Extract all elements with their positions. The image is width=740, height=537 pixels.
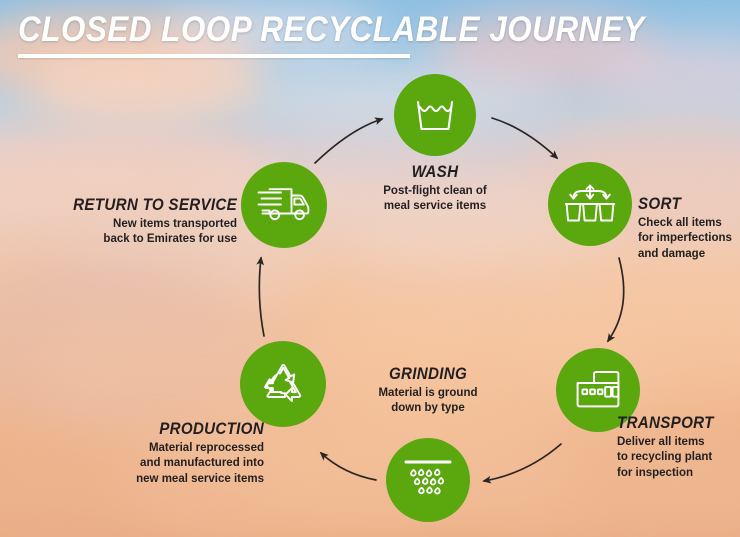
step-body-sort: Check all items for imperfections and da… — [638, 216, 740, 262]
step-heading-transport: TRANSPORT — [617, 415, 730, 432]
step-body-grinding: Material is ground down by type — [333, 386, 523, 416]
factory-plant-icon — [574, 370, 622, 410]
title-underline — [18, 54, 410, 58]
step-heading-wash: WASH — [348, 164, 523, 181]
step-body-return-to-service: New items transported back to Emirates f… — [2, 217, 237, 247]
page-title-text: CLOSED LOOP RECYCLABLE JOURNEY — [18, 12, 645, 47]
sorting-bins-icon — [565, 183, 615, 225]
step-circle-sort[interactable] — [548, 162, 632, 246]
step-heading-production: PRODUCTION — [28, 421, 264, 438]
delivery-truck-icon — [257, 186, 311, 224]
step-heading-return-to-service: RETURN TO SERVICE — [21, 197, 237, 214]
step-label-return-to-service: RETURN TO SERVICE New items transported … — [2, 197, 237, 248]
step-body-production: Material reprocessed and manufactured in… — [8, 441, 264, 487]
step-heading-sort: SORT — [638, 196, 734, 213]
step-heading-grinding: GRINDING — [341, 366, 516, 383]
step-circle-return-to-service[interactable] — [241, 162, 327, 248]
washing-basin-icon — [413, 95, 457, 135]
step-circle-production[interactable] — [240, 341, 326, 427]
page-title: CLOSED LOOP RECYCLABLE JOURNEY — [18, 12, 714, 58]
step-circle-wash[interactable] — [394, 74, 476, 156]
step-label-production: PRODUCTION Material reprocessed and manu… — [8, 421, 264, 487]
step-label-wash: WASH Post-flight clean of meal service i… — [340, 164, 530, 215]
cloud — [30, 52, 270, 122]
step-label-grinding: GRINDING Material is ground down by type — [333, 366, 523, 417]
step-label-sort: SORT Check all items for imperfections a… — [638, 196, 740, 262]
step-body-transport: Deliver all items to recycling plant for… — [617, 435, 740, 481]
infographic-poster: CLOSED LOOP RECYCLABLE JOURNEY — [0, 0, 740, 537]
granules-grinding-icon — [404, 458, 452, 502]
step-circle-grinding[interactable] — [386, 438, 470, 522]
recycle-triangle-icon — [259, 361, 307, 407]
step-label-transport: TRANSPORT Deliver all items to recycling… — [617, 415, 740, 481]
step-body-wash: Post-flight clean of meal service items — [340, 184, 530, 214]
